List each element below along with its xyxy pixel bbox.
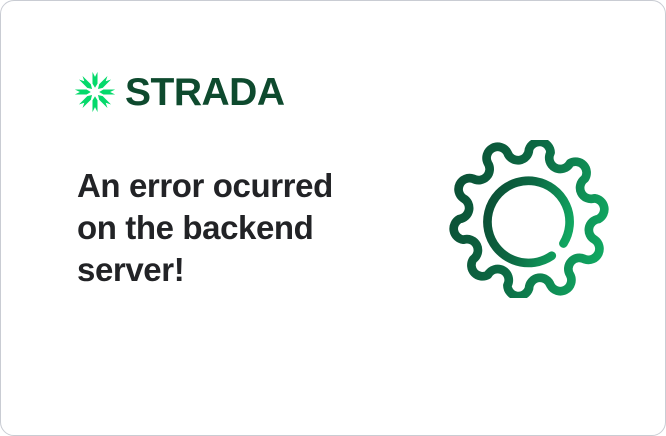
error-card: STRADA An error ocurred on the backend s… [0, 0, 666, 436]
brand-lockup: STRADA [74, 71, 285, 113]
strada-asterisk-icon [74, 71, 116, 113]
gear-illustration [447, 140, 611, 298]
brand-wordmark: STRADA [125, 73, 285, 112]
gear-cog-icon [447, 140, 611, 298]
error-message: An error ocurred on the backend server! [77, 165, 377, 291]
